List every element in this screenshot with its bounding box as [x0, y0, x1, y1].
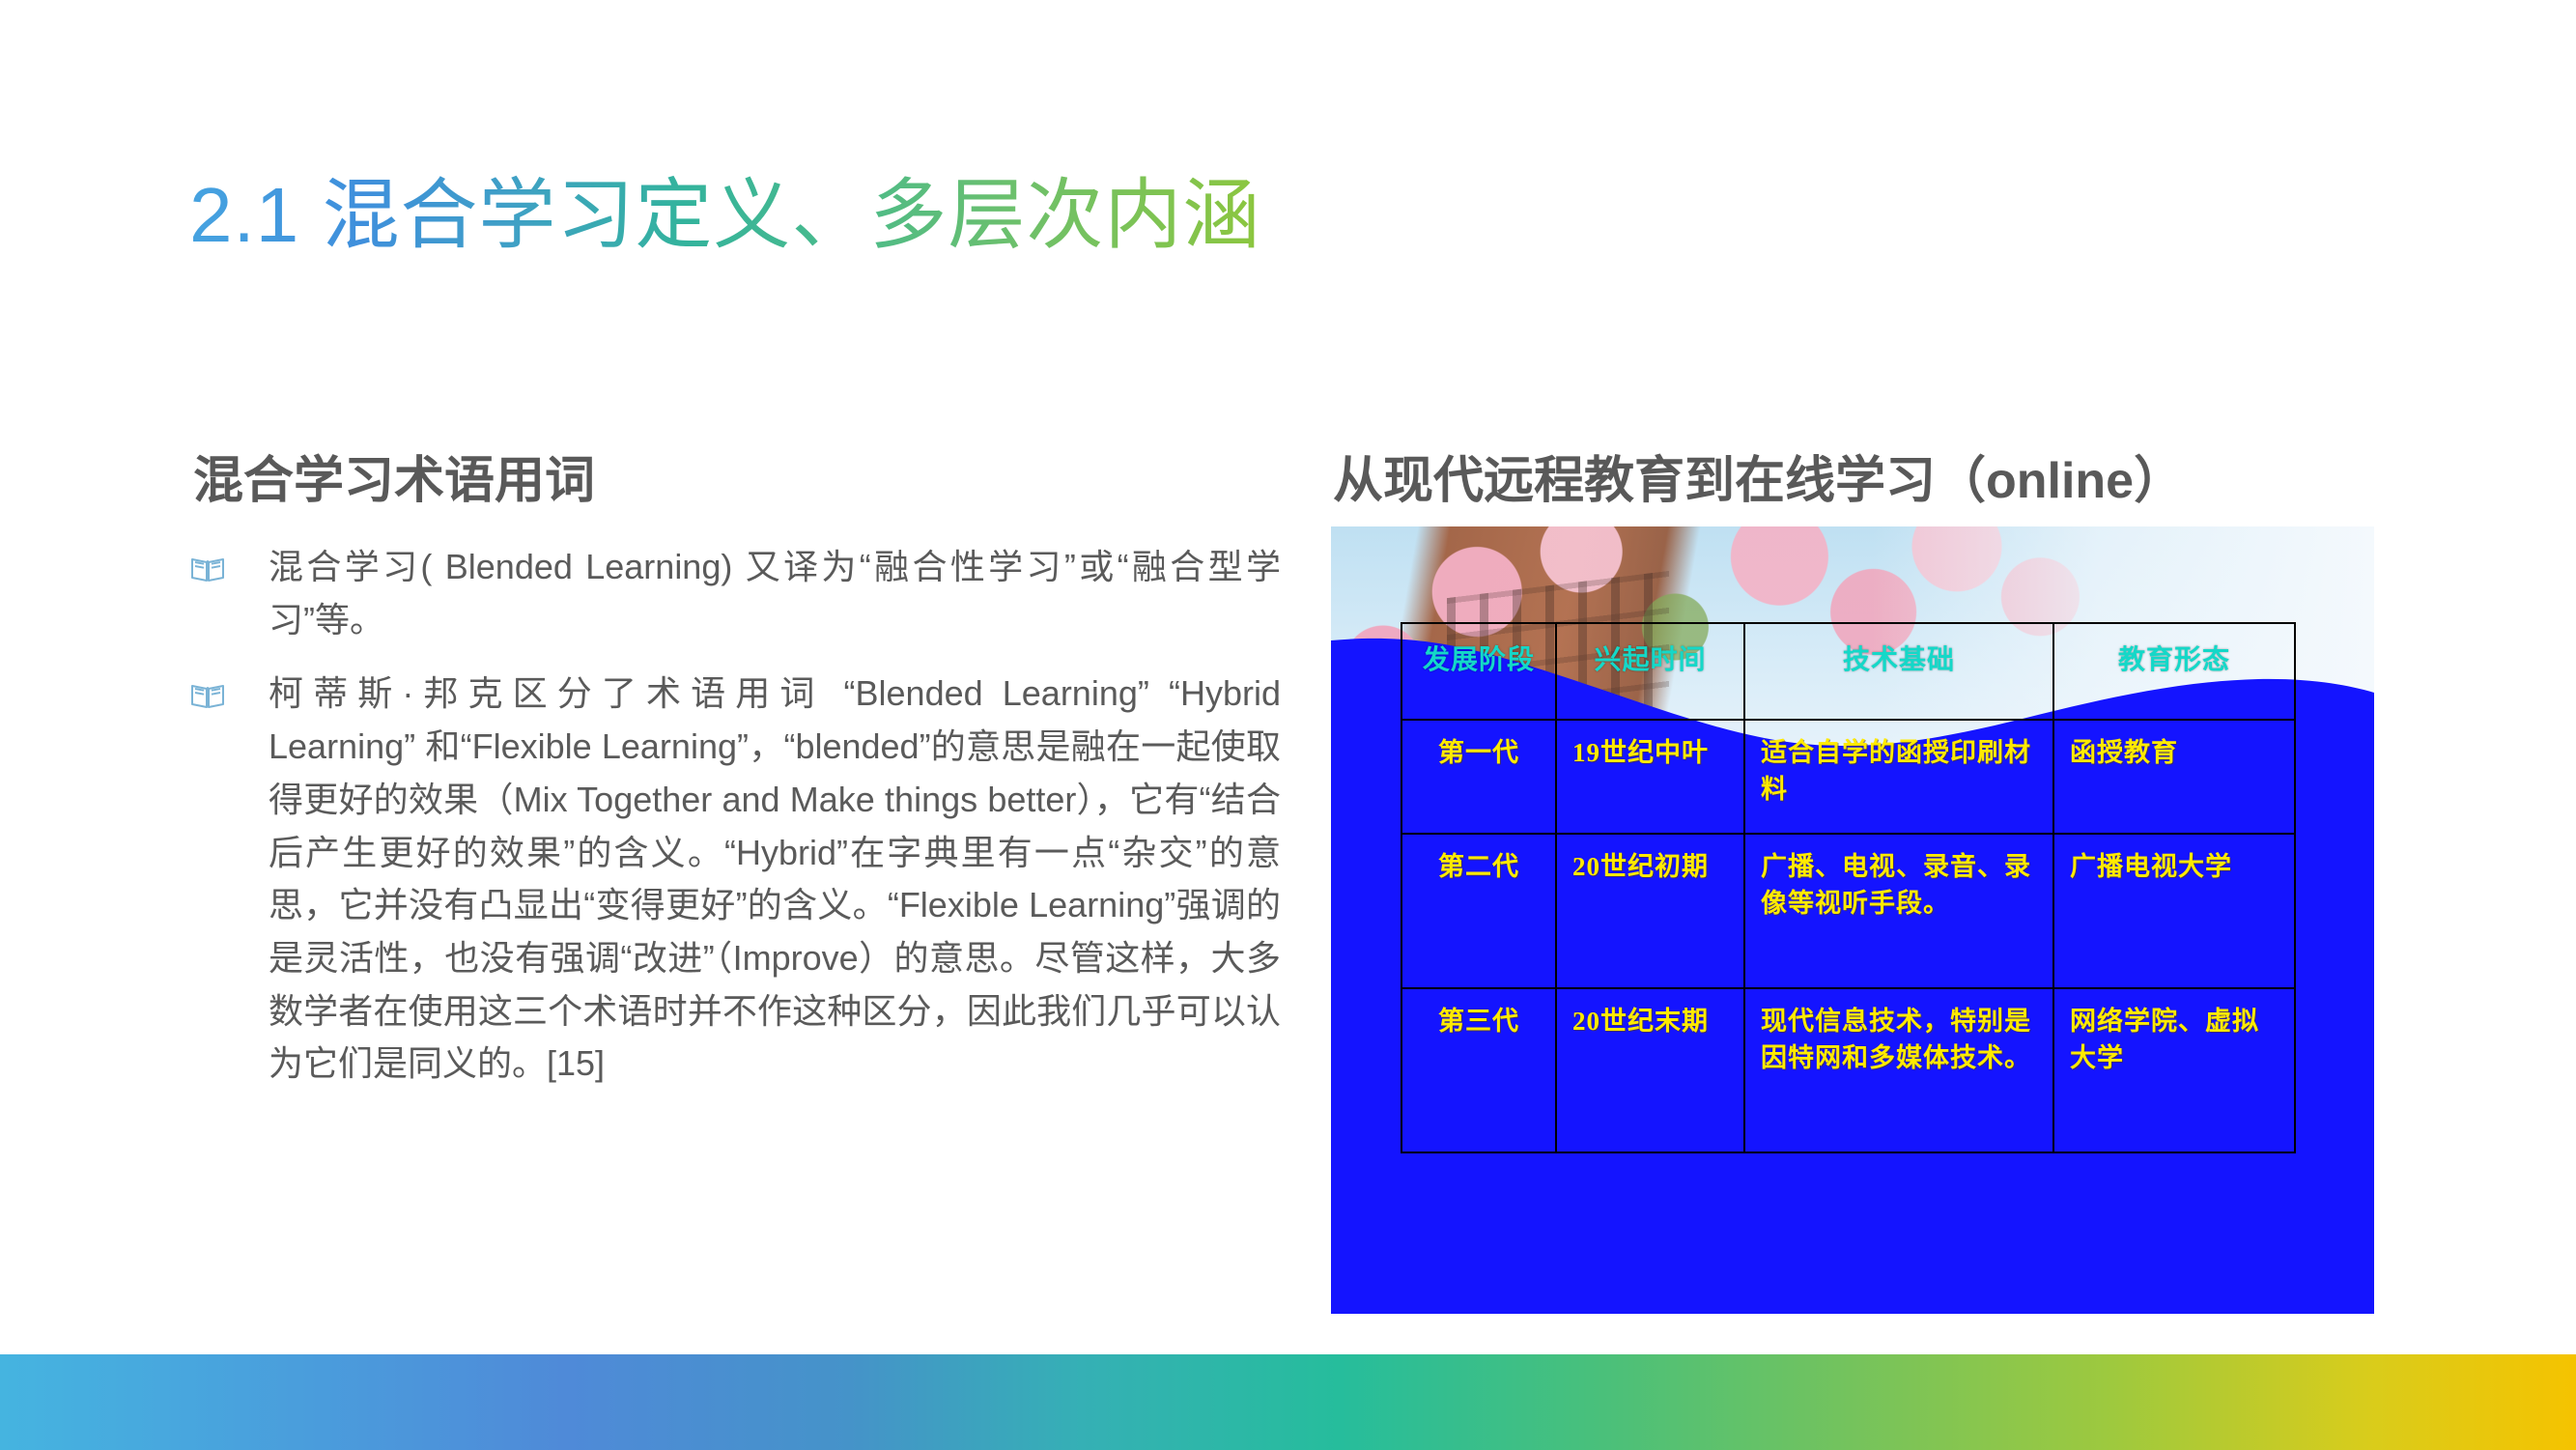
cell-stage: 第一代 — [1401, 720, 1556, 834]
column-header-form: 教育形态 — [2053, 623, 2295, 720]
cell-time: 19世纪中叶 — [1556, 720, 1744, 834]
column-header-technology: 技术基础 — [1744, 623, 2053, 720]
cell-technology: 现代信息技术，特别是因特网和多媒体技术。 — [1744, 988, 2053, 1152]
open-book-icon — [189, 677, 226, 714]
cell-technology: 广播、电视、录音、录像等视听手段。 — [1744, 834, 2053, 988]
cell-technology: 适合自学的函授印刷材料 — [1744, 720, 2053, 834]
generations-table: 发展阶段 兴起时间 技术基础 教育形态 第一代 19世纪中叶 适合自学的函授印刷… — [1401, 622, 2296, 1153]
cell-form: 广播电视大学 — [2053, 834, 2295, 988]
table-row: 第二代 20世纪初期 广播、电视、录音、录像等视听手段。 广播电视大学 — [1401, 834, 2295, 988]
left-column-heading: 混合学习术语用词 — [193, 440, 595, 512]
cell-time: 20世纪初期 — [1556, 834, 1744, 988]
cell-form: 函授教育 — [2053, 720, 2295, 834]
generations-of-distance-education-figure: 发展阶段 兴起时间 技术基础 教育形态 第一代 19世纪中叶 适合自学的函授印刷… — [1331, 526, 2374, 1314]
bullet-list: 混合学习( Blended Learning) 又译为“融合性学习”或“融合型学… — [189, 541, 1281, 1112]
table-container: 发展阶段 兴起时间 技术基础 教育形态 第一代 19世纪中叶 适合自学的函授印刷… — [1401, 622, 2294, 1153]
table-row: 第三代 20世纪末期 现代信息技术，特别是因特网和多媒体技术。 网络学院、虚拟大… — [1401, 988, 2295, 1152]
list-item: 柯蒂斯·邦克区分了术语用词 “Blended Learning” “Hybrid… — [189, 668, 1281, 1091]
cell-time: 20世纪末期 — [1556, 988, 1744, 1152]
column-header-time: 兴起时间 — [1556, 623, 1744, 720]
cell-stage: 第二代 — [1401, 834, 1556, 988]
open-book-icon — [189, 551, 226, 587]
list-item-text: 混合学习( Blended Learning) 又译为“融合性学习”或“融合型学… — [269, 541, 1281, 646]
column-header-stage: 发展阶段 — [1401, 623, 1556, 720]
table-header-row: 发展阶段 兴起时间 技术基础 教育形态 — [1401, 623, 2295, 720]
cell-stage: 第三代 — [1401, 988, 1556, 1152]
list-item: 混合学习( Blended Learning) 又译为“融合性学习”或“融合型学… — [189, 541, 1281, 646]
right-column-heading: 从现代远程教育到在线学习（online） — [1333, 440, 2184, 512]
cell-form: 网络学院、虚拟大学 — [2053, 988, 2295, 1152]
table-row: 第一代 19世纪中叶 适合自学的函授印刷材料 函授教育 — [1401, 720, 2295, 834]
page-title: 2.1 混合学习定义、多层次内涵 — [189, 153, 1260, 265]
list-item-text: 柯蒂斯·邦克区分了术语用词 “Blended Learning” “Hybrid… — [269, 668, 1281, 1091]
footer-gradient-bar — [0, 1354, 2576, 1450]
